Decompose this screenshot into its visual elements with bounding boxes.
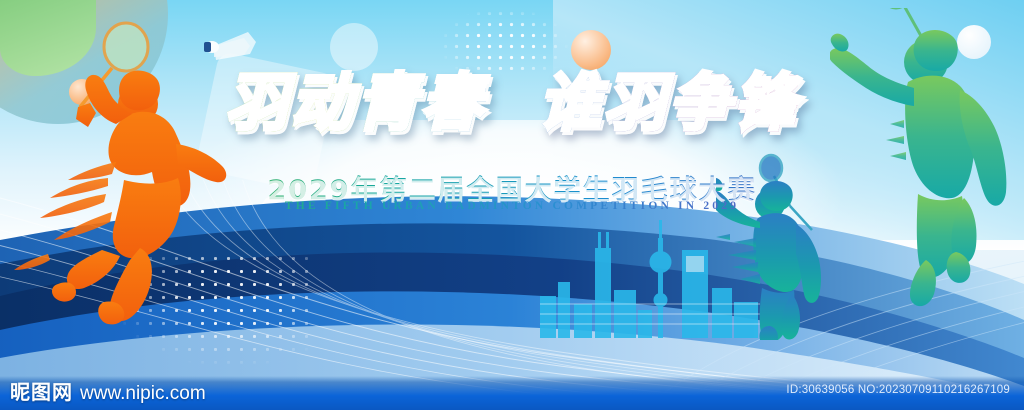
green-player-silhouette — [830, 8, 1024, 308]
watermark: 昵图网 www.nipic.com — [10, 376, 206, 405]
subtitle-english: THE FIFTH URBAN BADMINTON COMPETITION IN… — [0, 200, 1024, 212]
watermark-url[interactable]: www.nipic.com — [80, 383, 206, 405]
halftone-dot-pattern — [440, 8, 568, 70]
decor-white-circle-top — [330, 23, 378, 71]
image-id-text: ID:30639056 NO:20230709110216267109 — [786, 384, 1010, 396]
shuttlecock-icon — [190, 22, 260, 68]
watermark-site-name: 昵图网 — [10, 376, 73, 405]
decor-orange-circle-medium — [571, 30, 611, 70]
poster-canvas: 羽动青春 谁羽争锋 2029年第二届全国大学生羽毛球大赛 THE FIFTH U… — [0, 0, 1024, 410]
